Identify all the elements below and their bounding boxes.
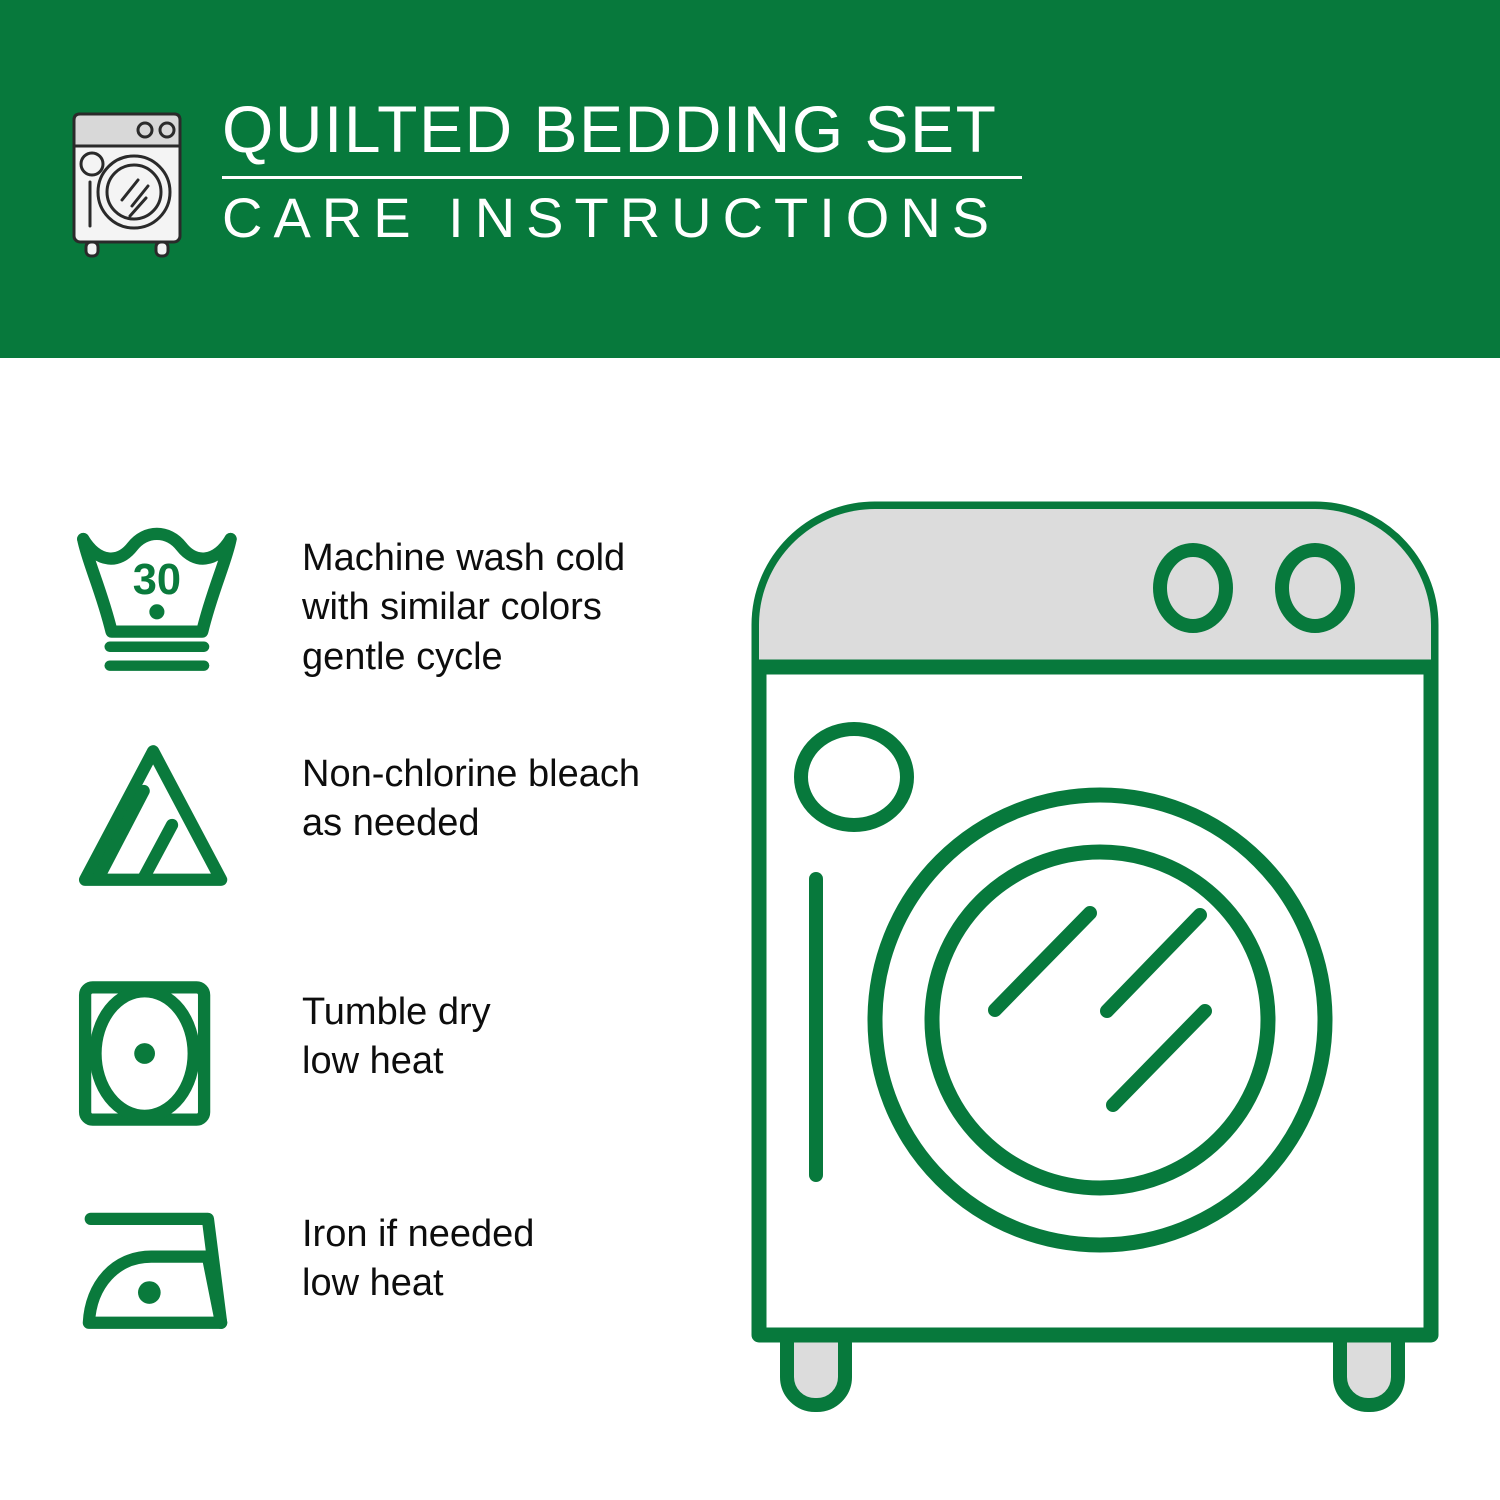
list-item: Tumble dry low heat [70, 974, 710, 1144]
header-band: QUILTED BEDDING SET CARE INSTRUCTIONS [0, 0, 1500, 358]
list-item-label: Machine wash cold with similar colors ge… [240, 520, 710, 682]
list-item: 30 Machine wash cold with similar colors… [70, 520, 710, 690]
iron-low-heat-icon [70, 1196, 240, 1356]
list-item: Iron if needed low heat [70, 1196, 710, 1366]
page-subtitle: CARE INSTRUCTIONS [214, 189, 1064, 248]
header-content: QUILTED BEDDING SET CARE INSTRUCTIONS [62, 96, 1062, 276]
list-item: Non-chlorine bleach as needed [70, 736, 710, 906]
list-item-label: Non-chlorine bleach as needed [240, 736, 710, 849]
care-symbol-list: 30 Machine wash cold with similar colors… [0, 358, 720, 1500]
care-instructions-page: QUILTED BEDDING SET CARE INSTRUCTIONS [0, 0, 1500, 1500]
washing-machine-illustration [745, 495, 1445, 1415]
list-item-label: Iron if needed low heat [240, 1196, 710, 1309]
list-item-label: Tumble dry low heat [240, 974, 710, 1087]
wash-temperature-label: 30 [133, 556, 181, 604]
control-panel [759, 509, 1431, 667]
washing-machine-icon [62, 104, 192, 259]
wash-tub-30-gentle-icon: 30 [70, 520, 240, 680]
tumble-dry-low-heat-icon [70, 974, 240, 1134]
bleach-triangle-non-chlorine-icon [70, 736, 240, 896]
header-text-block: QUILTED BEDDING SET CARE INSTRUCTIONS [214, 96, 1064, 248]
page-title: QUILTED BEDDING SET [214, 96, 1064, 170]
header-divider [222, 176, 1022, 179]
